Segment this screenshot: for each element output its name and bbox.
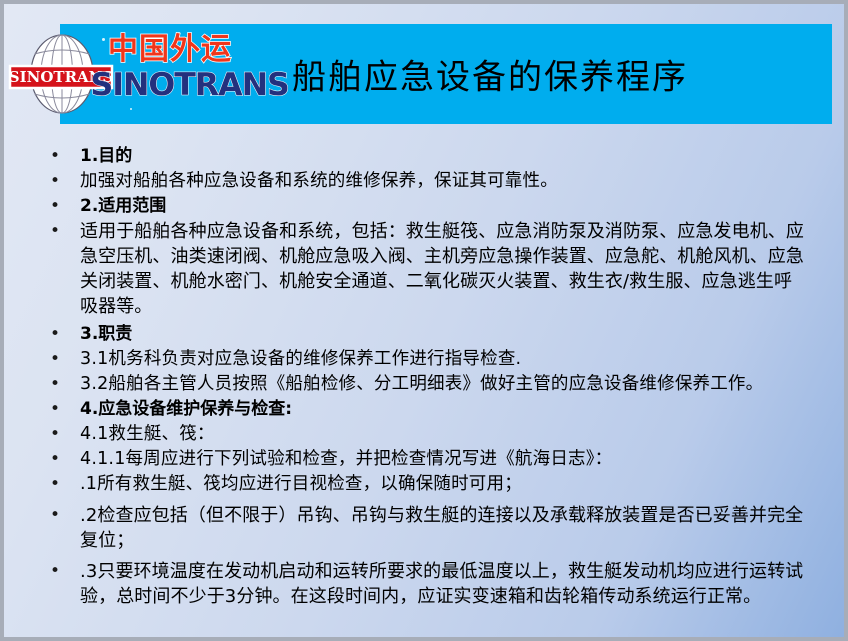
wordmark-english: SINOTRANS — [90, 68, 249, 102]
bullet-marker: • — [50, 422, 80, 447]
bullet-text: .3只要环境温度在发动机启动和运转所要求的最低温度以上，救生艇发动机均应进行运转… — [80, 559, 804, 609]
presentation-slide: 船舶应急设备的保养程序 SINOTRANS 中国外运 SINOTRANS • 1… — [0, 0, 848, 641]
bullet-text: .1所有救生艇、筏均应进行目视检查，以确保随时可用； — [80, 472, 804, 497]
bullet-marker: • — [50, 397, 80, 422]
wordmark-chinese: 中国外运 — [92, 32, 248, 68]
bullet-text: 1.目的 — [80, 144, 804, 169]
bullet-item: • 3.2船舶各主管人员按照《船舶检修、分工明细表》做好主管的应急设备维修保养工… — [4, 372, 848, 397]
bullet-item: • 4.1救生艇、筏： — [4, 422, 848, 447]
bullet-marker: • — [50, 219, 80, 244]
bullet-marker: • — [50, 559, 80, 584]
sinotrans-wordmark: 中国外运 SINOTRANS — [92, 32, 248, 122]
bullet-marker: • — [50, 472, 80, 497]
bullet-item: • .2检查应包括（但不限于）吊钩、吊钩与救生艇的连接以及承载释放装置是否已妥善… — [4, 503, 848, 553]
bullet-text: 4.1.1每周应进行下列试验和检查，并把检查情况写进《航海日志》： — [80, 447, 804, 472]
page-title: 船舶应急设备的保养程序 — [292, 50, 688, 99]
bullet-item: • 4.应急设备维护保养与检查: — [4, 397, 848, 422]
bullet-text: 4.1救生艇、筏： — [80, 422, 804, 447]
bullet-text: 适用于船舶各种应急设备和系统，包括：救生艇筏、应急消防泵及消防泵、应急发电机、应… — [80, 219, 804, 319]
bullet-marker: • — [50, 347, 80, 372]
bullet-item: • 适用于船舶各种应急设备和系统，包括：救生艇筏、应急消防泵及消防泵、应急发电机… — [4, 219, 848, 319]
bullet-text: 4.应急设备维护保养与检查: — [80, 397, 804, 422]
bullet-marker: • — [50, 447, 80, 472]
bullet-marker: • — [50, 372, 80, 397]
bullet-marker: • — [50, 194, 80, 219]
bullet-item: • 3.职责 — [4, 322, 848, 347]
bullet-item: • 1.目的 — [4, 144, 848, 169]
bullet-item: • 2.适用范围 — [4, 194, 848, 219]
bullet-text: .2检查应包括（但不限于）吊钩、吊钩与救生艇的连接以及承载释放装置是否已妥善并完… — [80, 503, 804, 553]
bullet-marker: • — [50, 169, 80, 194]
bullet-marker: • — [50, 322, 80, 347]
bullet-item: • .1所有救生艇、筏均应进行目视检查，以确保随时可用； — [4, 472, 848, 497]
bullet-item: • 3.1机务科负责对应急设备的维修保养工作进行指导检查. — [4, 347, 848, 372]
bullet-item: • 4.1.1每周应进行下列试验和检查，并把检查情况写进《航海日志》： — [4, 447, 848, 472]
bullet-marker: • — [50, 144, 80, 169]
slide-body: • 1.目的 • 加强对船舶各种应急设备和系统的维修保养，保证其可靠性。 • 2… — [4, 144, 848, 609]
bullet-text: 2.适用范围 — [80, 194, 804, 219]
bullet-text: 3.2船舶各主管人员按照《船舶检修、分工明细表》做好主管的应急设备维修保养工作。 — [80, 372, 804, 397]
bullet-marker: • — [50, 503, 80, 528]
bullet-text: 3.1机务科负责对应急设备的维修保养工作进行指导检查. — [80, 347, 804, 372]
bullet-text: 3.职责 — [80, 322, 804, 347]
bullet-item: • .3只要环境温度在发动机启动和运转所要求的最低温度以上，救生艇发动机均应进行… — [4, 559, 848, 609]
bullet-item: • 加强对船舶各种应急设备和系统的维修保养，保证其可靠性。 — [4, 169, 848, 194]
bullet-text: 加强对船舶各种应急设备和系统的维修保养，保证其可靠性。 — [80, 169, 804, 194]
